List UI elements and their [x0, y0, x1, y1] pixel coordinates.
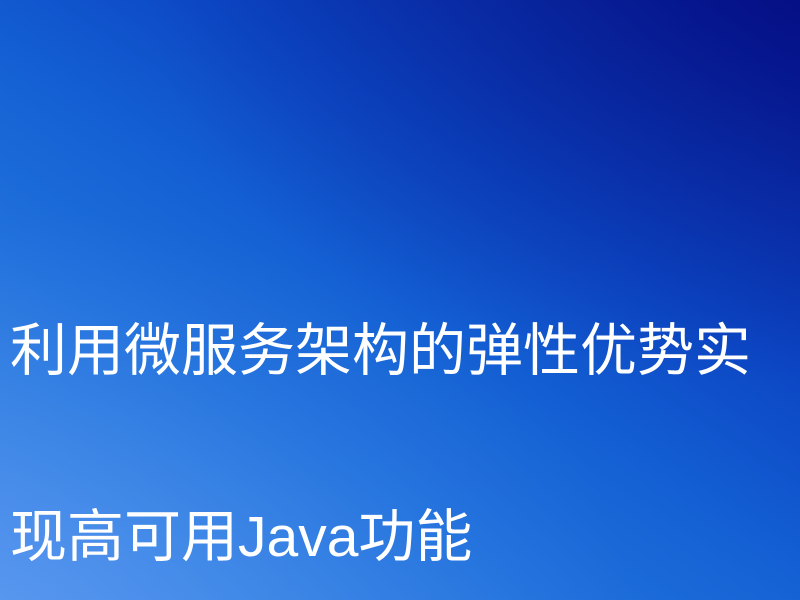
headline-line-2: 现高可用Java功能	[10, 506, 800, 568]
headline-line-1: 利用微服务架构的弹性优势实	[10, 320, 800, 382]
page-title: 利用微服务架构的弹性优势实 现高可用Java功能	[10, 196, 800, 600]
banner-background: 利用微服务架构的弹性优势实 现高可用Java功能	[0, 0, 800, 600]
